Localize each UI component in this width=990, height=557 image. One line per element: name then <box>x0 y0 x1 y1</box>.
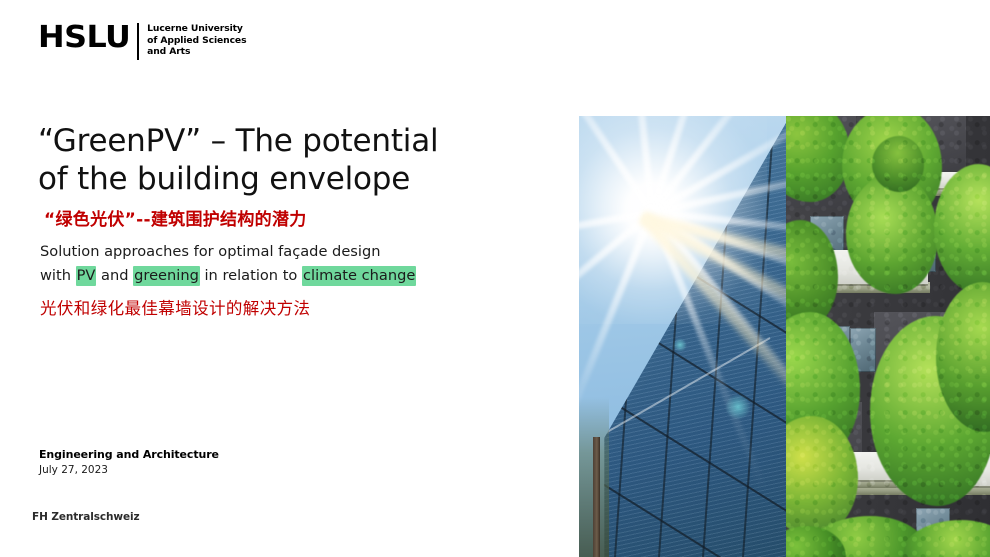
slide-subtitle-chinese-primary: “绿色光伏”--建筑围护结构的潜力 <box>44 208 307 232</box>
slide-title-line-1: “GreenPV” – The potential <box>38 122 538 160</box>
body-text-in-relation-to: in relation to <box>200 267 302 284</box>
footer-department: Engineering and Architecture <box>39 447 219 462</box>
slide-image-pair <box>579 116 990 557</box>
hslu-logo-subtext-line-1: Lucerne University <box>147 23 246 35</box>
hslu-logo-subtext-line-2: of Applied Sciences <box>147 35 246 47</box>
hslu-logo: HSLU Lucerne University of Applied Scien… <box>38 22 246 62</box>
slide-title-line-2: of the building envelope <box>38 160 538 198</box>
green-vertical-forest-facade-photo <box>786 116 990 557</box>
body-text-and: and <box>96 267 133 284</box>
lens-flare-dot <box>725 394 751 420</box>
logo-divider <box>137 23 139 60</box>
presentation-slide: HSLU Lucerne University of Applied Scien… <box>0 0 990 557</box>
slide-footer: Engineering and Architecture July 27, 20… <box>39 447 219 478</box>
slide-subtitle-chinese-secondary: 光伏和绿化最佳幕墙设计的解决方法 <box>40 297 310 321</box>
slide-title: “GreenPV” – The potential of the buildin… <box>38 122 538 198</box>
hslu-logo-subtext: Lucerne University of Applied Sciences a… <box>147 22 246 58</box>
utility-post <box>593 437 600 557</box>
fh-zentralschweiz-mark: FH Zentralschweiz <box>32 511 140 523</box>
solar-pv-facade-photo <box>579 116 786 557</box>
body-line-2: with PV and greening in relation to clim… <box>40 264 510 288</box>
slide-body-text: Solution approaches for optimal façade d… <box>40 240 510 287</box>
hslu-wordmark: HSLU <box>38 22 130 54</box>
body-line-1: Solution approaches for optimal façade d… <box>40 240 510 264</box>
hslu-logo-subtext-line-3: and Arts <box>147 46 246 58</box>
lens-flare-dot <box>673 338 687 352</box>
body-text-with: with <box>40 267 76 284</box>
highlight-greening: greening <box>133 266 200 286</box>
footer-date: July 27, 2023 <box>39 463 219 478</box>
highlight-climate-change: climate change <box>302 266 416 286</box>
highlight-pv: PV <box>76 266 97 286</box>
foliage-texture-overlay <box>786 116 990 557</box>
